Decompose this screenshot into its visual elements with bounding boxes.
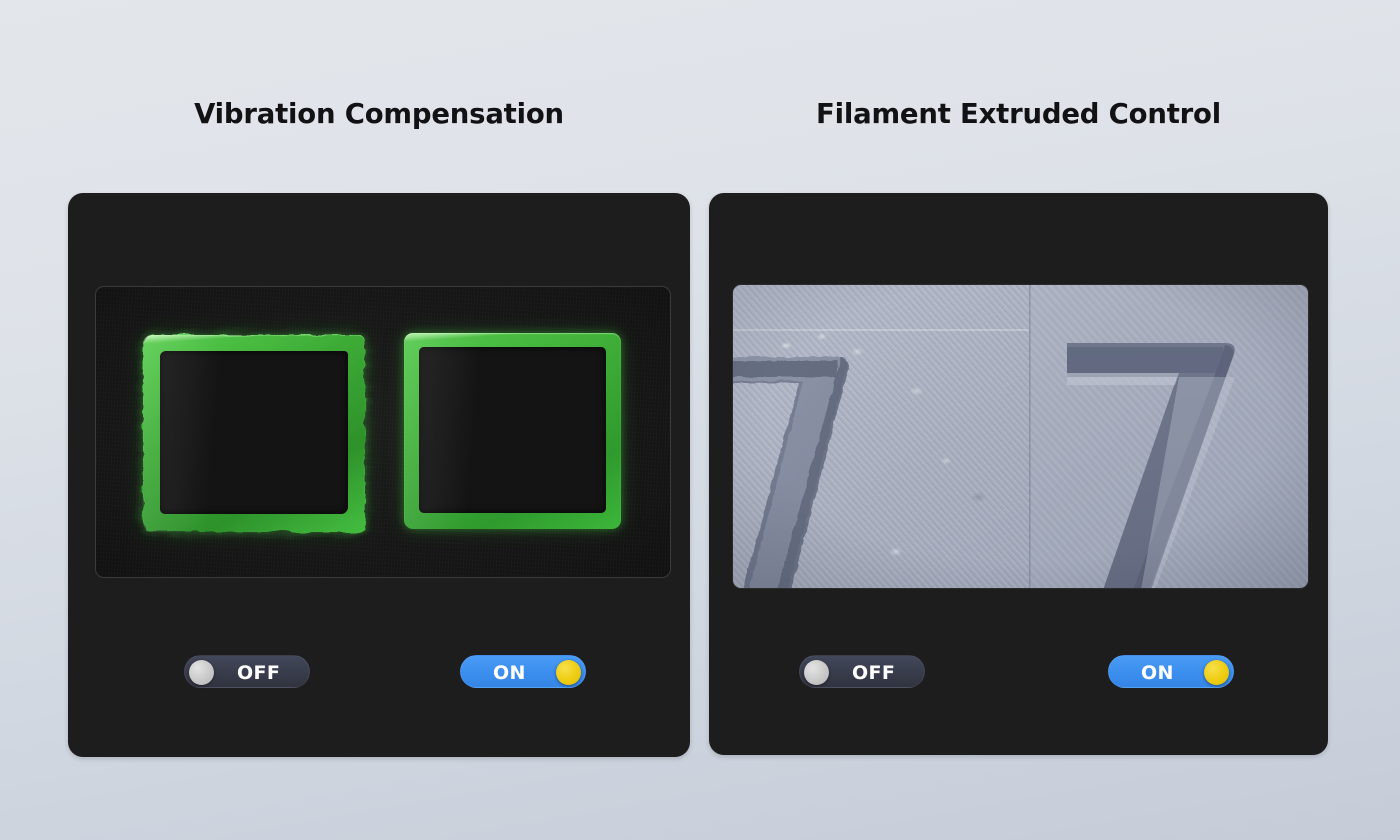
filament-control-off-toggle[interactable]: OFF [799, 655, 925, 688]
toggle-knob-icon [1204, 660, 1229, 685]
vibration-compensation-on-toggle[interactable]: ON [460, 655, 586, 688]
toggle-label: OFF [237, 664, 280, 683]
square-opening-left [160, 351, 348, 514]
green-square-clean [404, 333, 621, 529]
toggle-knob-icon [189, 660, 214, 685]
embossed-seven-clean [1029, 285, 1308, 588]
toggle-label: ON [493, 664, 526, 683]
panel-title-filament-extruded-control: Filament Extruded Control [709, 98, 1328, 130]
embossed-seven-blobby [733, 285, 1029, 588]
filament-control-on-toggle[interactable]: ON [1108, 655, 1234, 688]
image-divider [1029, 285, 1031, 588]
filament-toggle-row: OFF ON [709, 655, 1328, 695]
vibration-compensation-off-toggle[interactable]: OFF [184, 655, 310, 688]
toggle-knob-icon [804, 660, 829, 685]
green-square-wavy [143, 335, 365, 532]
vibration-compensation-card: OFF ON [68, 193, 690, 757]
green-print-comparison-image [95, 286, 671, 578]
macro-half-blobby [733, 285, 1029, 588]
toggle-label: OFF [852, 664, 895, 683]
square-opening-right [419, 347, 606, 513]
toggle-label: ON [1141, 664, 1174, 683]
panel-title-vibration-compensation: Vibration Compensation [68, 98, 690, 130]
vibration-toggle-row: OFF ON [68, 655, 690, 695]
toggle-knob-icon [556, 660, 581, 685]
comparison-stage: Vibration Compensation OFF [0, 0, 1400, 840]
filament-extrusion-comparison-image [732, 284, 1309, 589]
macro-half-clean [1029, 285, 1308, 588]
filament-control-card: OFF ON [709, 193, 1328, 755]
